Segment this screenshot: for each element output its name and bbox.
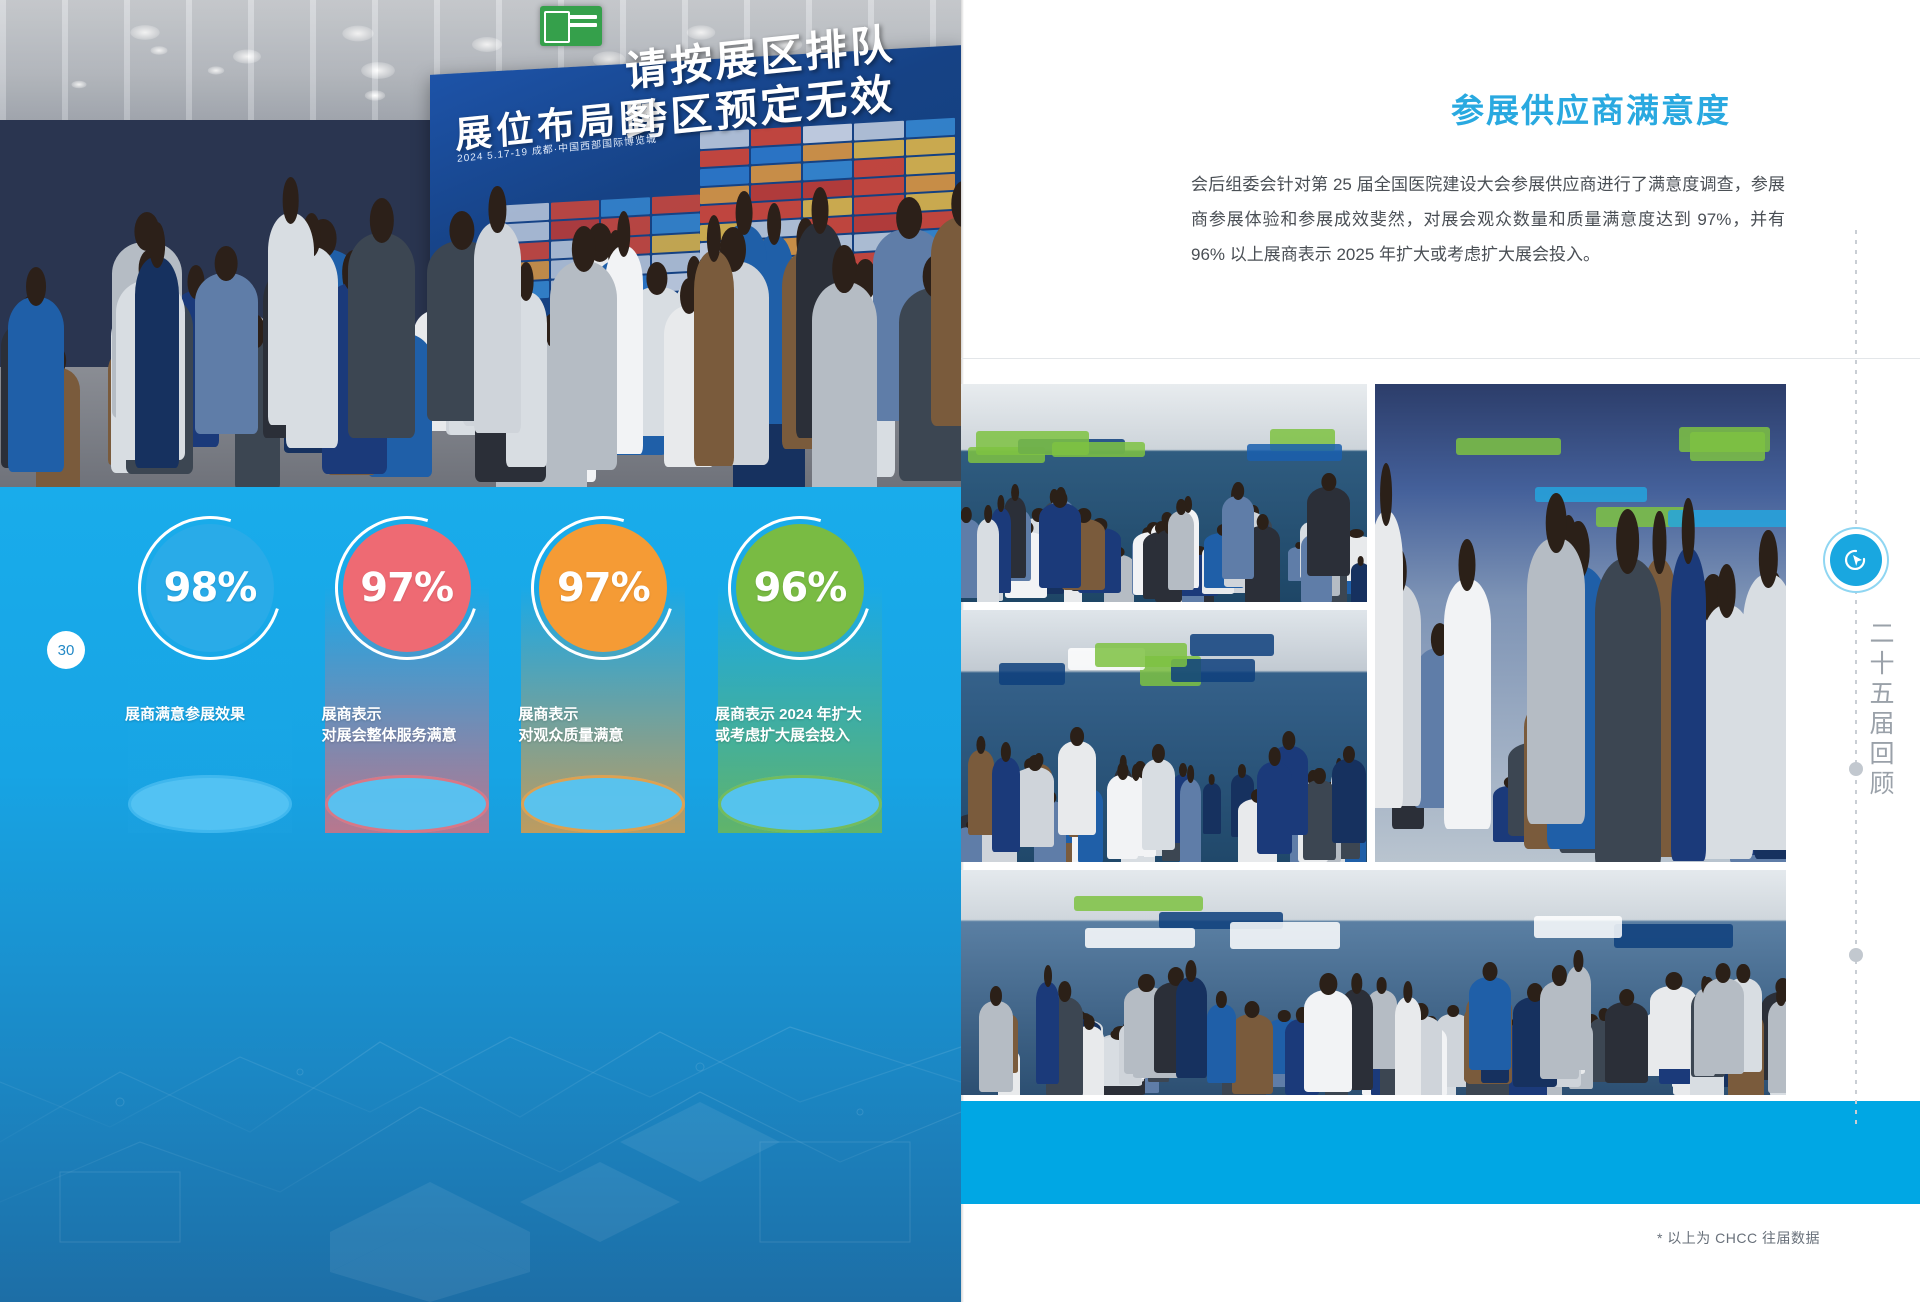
person — [1203, 783, 1222, 835]
person — [1207, 1004, 1235, 1083]
rail-dotted-line — [1855, 230, 1857, 1130]
person — [1016, 767, 1055, 846]
person — [1257, 762, 1292, 854]
stat-value: 98% — [164, 565, 257, 611]
hero-exhibition-photo: 请按展区排队 跨区预定无效 展位布局图 2024 5.17-19 成都·中国西部… — [0, 0, 961, 487]
person — [931, 217, 961, 426]
booth-signage — [1230, 922, 1340, 949]
person — [1351, 563, 1367, 602]
stat-caption: 展商表示对展会整体服务满意 — [322, 704, 497, 747]
person — [1304, 990, 1352, 1092]
person — [1566, 966, 1592, 1069]
person — [968, 750, 994, 836]
person — [812, 282, 877, 487]
person — [977, 519, 999, 602]
booth-signage — [976, 431, 1090, 454]
person — [195, 273, 258, 434]
person — [1469, 977, 1511, 1070]
person — [1595, 558, 1661, 862]
stat-caption: 展商满意参展效果 — [125, 704, 300, 725]
stat-ring: 98% — [146, 524, 274, 652]
person — [474, 222, 522, 433]
stat-ring: 97% — [343, 524, 471, 652]
person — [348, 233, 416, 439]
stat-value: 97% — [360, 565, 453, 611]
stat-caption: 展商表示 2024 年扩大或考虑扩大展会投入 — [715, 704, 890, 747]
person — [1039, 503, 1081, 588]
person — [1332, 759, 1366, 843]
intro-paragraph: 会后组委会针对第 25 届全国医院建设大会参展供应商进行了满意度调查，参展商参展… — [1191, 168, 1785, 273]
person — [1395, 997, 1421, 1095]
spread-page: 请按展区排队 跨区预定无效 展位布局图 2024 5.17-19 成都·中国西部… — [0, 0, 1920, 1302]
person — [1107, 775, 1138, 858]
person — [1605, 1002, 1648, 1083]
rail-node — [1849, 948, 1863, 962]
section-vertical-label: 二十五届回顾 — [1858, 620, 1898, 800]
stat-ring: 96% — [736, 524, 864, 652]
person — [979, 1001, 1012, 1092]
stat-card-3: 96%展商表示 2024 年扩大或考虑扩大展会投入 — [715, 524, 885, 854]
photo-floorplan-queue — [961, 610, 1367, 862]
cursor-click-icon[interactable] — [1830, 534, 1882, 586]
booth-signage — [1247, 444, 1342, 460]
booth-signage — [999, 663, 1065, 685]
person — [1232, 1014, 1274, 1093]
person — [1222, 496, 1254, 579]
person — [694, 251, 733, 466]
exit-sign-icon — [540, 6, 602, 46]
stat-caption: 展商表示对观众质量满意 — [518, 704, 693, 747]
person — [1671, 548, 1706, 860]
stat-value: 96% — [754, 565, 847, 611]
tech-pattern-background — [0, 842, 961, 1302]
person — [1168, 511, 1195, 590]
side-rail: 二十五届回顾 — [1790, 0, 1920, 1302]
booth-signage — [1085, 928, 1195, 947]
person — [1058, 741, 1097, 834]
booth-signage — [1095, 643, 1187, 667]
person — [1375, 511, 1403, 808]
stat-ring: 97% — [539, 524, 667, 652]
person — [1036, 982, 1058, 1084]
photo-nubomed-booth-visitors — [1375, 384, 1786, 862]
stat-card-0: 98%展商满意参展效果 — [125, 524, 295, 854]
stat-value: 97% — [557, 565, 650, 611]
person — [1180, 779, 1202, 862]
stat-card-1: 97%展商表示对展会整体服务满意 — [322, 524, 492, 854]
left-page: 请按展区排队 跨区预定无效 展位布局图 2024 5.17-19 成都·中国西部… — [0, 0, 961, 1302]
person — [135, 257, 179, 467]
person — [992, 757, 1021, 851]
person — [268, 213, 314, 425]
person — [1307, 487, 1349, 576]
person — [1743, 574, 1786, 849]
divider — [961, 358, 1920, 359]
person — [1527, 538, 1584, 823]
person — [1703, 978, 1745, 1074]
right-page: 参展供应商满意度 会后组委会针对第 25 届全国医院建设大会参展供应商进行了满意… — [961, 0, 1920, 1302]
booth-signage — [1074, 896, 1202, 911]
crowd-foreground — [0, 157, 961, 487]
booth-signage — [1534, 916, 1622, 938]
booth-signage — [1614, 924, 1733, 948]
satisfaction-stats: 98%展商满意参展效果97%展商表示对展会整体服务满意97%展商表示对观众质量满… — [125, 524, 885, 854]
booth-signage — [1190, 634, 1274, 655]
stat-card-2: 97%展商表示对观众质量满意 — [518, 524, 688, 854]
person — [1176, 977, 1207, 1078]
person — [1768, 1001, 1786, 1093]
person — [550, 261, 618, 470]
person — [1444, 579, 1491, 829]
booth-signage — [1456, 438, 1561, 455]
page-number-badge: 30 — [47, 631, 85, 669]
booth-signage — [1690, 432, 1766, 461]
photo-exhibitor-booth-crowd — [961, 384, 1367, 602]
bottom-blue-bar — [961, 1101, 1920, 1204]
person — [1142, 759, 1176, 850]
person — [1303, 780, 1337, 860]
person — [8, 297, 63, 472]
page-title: 参展供应商满意度 — [1451, 84, 1731, 132]
photo-exhibition-aisle-crowd — [961, 870, 1786, 1095]
